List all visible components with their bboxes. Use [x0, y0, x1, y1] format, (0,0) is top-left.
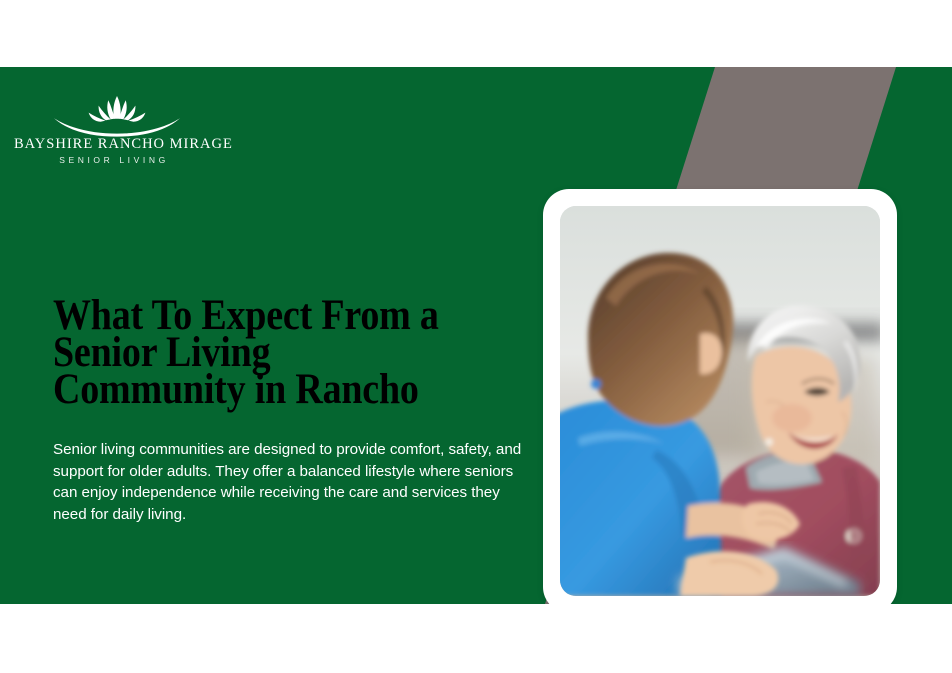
- lotus-flower-icon: [42, 94, 192, 138]
- slide-canvas: BAYSHIRE RANCHO MIRAGE SENIOR LIVING Wha…: [0, 0, 952, 673]
- green-background-panel: BAYSHIRE RANCHO MIRAGE SENIOR LIVING Wha…: [0, 67, 952, 604]
- photo-image: [560, 206, 880, 596]
- body-paragraph: Senior living communities are designed t…: [53, 439, 523, 525]
- page-title: What To Expect From a Senior Living Comm…: [53, 295, 523, 406]
- brand-name: BAYSHIRE RANCHO MIRAGE: [14, 136, 214, 153]
- brand-logo: BAYSHIRE RANCHO MIRAGE SENIOR LIVING: [14, 94, 214, 174]
- photo-card: [543, 189, 897, 604]
- brand-tagline: SENIOR LIVING: [14, 155, 214, 165]
- headline-line-3: Community in Rancho: [53, 369, 523, 411]
